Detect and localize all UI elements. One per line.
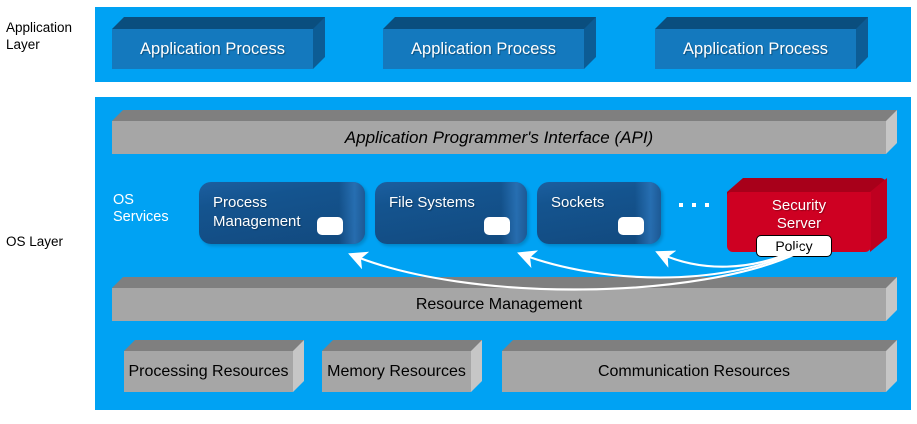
policy-hook-icon-process-management — [317, 217, 343, 235]
application-process-label-1: Application Process — [112, 29, 313, 69]
security-server-box[interactable]: Security Server Policy — [727, 178, 887, 252]
api-bar-label: Application Programmer's Interface (API) — [112, 121, 886, 154]
service-label-sockets: Sockets — [551, 193, 604, 212]
application-process-box-1[interactable]: Application Process — [112, 17, 325, 69]
resource-box-communication[interactable]: Communication Resources — [502, 340, 897, 392]
resource-management-label: Resource Management — [112, 288, 886, 321]
service-box-process-management[interactable]: Process Management — [199, 182, 365, 244]
resource-label-processing: Processing Resources — [124, 351, 293, 392]
ellipsis-dot — [679, 203, 683, 207]
box-sheen — [339, 182, 365, 244]
security-server-label: Security Server — [727, 197, 871, 233]
service-label-process-management: Process Management — [213, 193, 301, 231]
service-box-file-systems[interactable]: File Systems — [375, 182, 527, 244]
os-services-label: OS Services — [113, 192, 169, 226]
policy-hook-icon-file-systems — [484, 217, 510, 235]
policy-badge[interactable]: Policy — [756, 235, 832, 257]
service-box-sockets[interactable]: Sockets — [537, 182, 661, 244]
os-layer-label: OS Layer — [6, 233, 63, 250]
resource-label-communication: Communication Resources — [502, 351, 886, 392]
application-layer-label: Application Layer — [6, 19, 72, 53]
resource-label-memory: Memory Resources — [322, 351, 471, 392]
ellipsis-dot — [705, 203, 709, 207]
ellipsis-icon — [679, 203, 709, 207]
application-process-box-3[interactable]: Application Process — [655, 17, 868, 69]
service-label-file-systems: File Systems — [389, 193, 475, 212]
policy-hook-icon-sockets — [618, 217, 644, 235]
resource-box-processing[interactable]: Processing Resources — [124, 340, 304, 392]
application-process-label-3: Application Process — [655, 29, 856, 69]
application-process-box-2[interactable]: Application Process — [383, 17, 596, 69]
resource-box-memory[interactable]: Memory Resources — [322, 340, 482, 392]
diagram-canvas: Application Layer OS Layer Application P… — [0, 0, 917, 424]
api-bar[interactable]: Application Programmer's Interface (API) — [112, 110, 897, 154]
resource-management-bar[interactable]: Resource Management — [112, 277, 897, 321]
application-process-label-2: Application Process — [383, 29, 584, 69]
ellipsis-dot — [692, 203, 696, 207]
